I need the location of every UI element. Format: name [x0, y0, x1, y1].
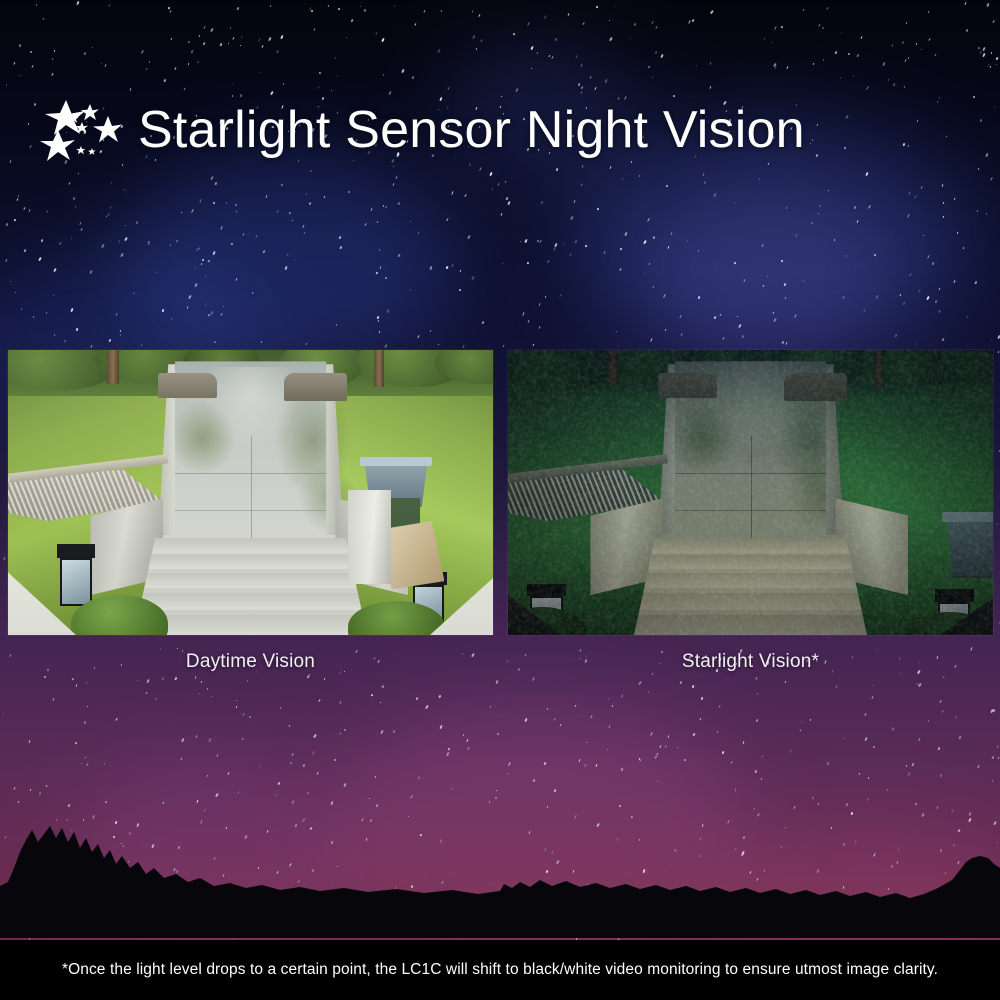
star-speck: [866, 86, 869, 90]
star-speck: [872, 684, 874, 686]
star-speck: [348, 191, 350, 194]
star-speck: [206, 775, 208, 777]
star-speck: [906, 22, 908, 24]
scene-garden-walkway-night: [508, 350, 993, 635]
star-speck: [660, 744, 662, 747]
star-speck: [794, 314, 797, 318]
star-speck: [318, 698, 321, 701]
star-speck: [670, 232, 672, 235]
star-speck: [904, 86, 906, 88]
star-speck: [108, 339, 111, 342]
star-speck: [540, 201, 543, 204]
star-speck: [339, 246, 342, 249]
star-speck: [681, 333, 684, 337]
scene-bin-rim: [360, 457, 433, 466]
star-speck: [723, 337, 725, 340]
star-speck: [416, 697, 419, 701]
scene-trash-bin: [945, 515, 994, 578]
star-speck: [661, 54, 664, 59]
star-speck: [384, 206, 387, 209]
star-speck: [418, 776, 421, 780]
star-speck: [654, 51, 657, 55]
star-speck: [214, 340, 216, 342]
star-speck: [124, 224, 126, 226]
star-speck: [964, 2, 966, 5]
footnote-bar: *Once the light level drops to a certain…: [0, 940, 1000, 1000]
star-speck: [446, 752, 449, 756]
star-speck: [882, 61, 885, 65]
star-speck: [915, 195, 918, 199]
star-speck: [237, 791, 239, 794]
star-speck: [547, 260, 549, 263]
star-speck: [377, 320, 379, 322]
star-speck: [312, 750, 315, 754]
star-speck: [780, 260, 782, 262]
star-speck: [40, 238, 43, 242]
star-speck: [892, 82, 895, 86]
star-speck: [18, 195, 20, 197]
star-speck: [52, 295, 53, 297]
star-speck: [894, 334, 897, 337]
star-speck: [13, 62, 16, 65]
star-speck: [923, 235, 924, 237]
star-speck: [52, 698, 54, 701]
star-speck: [696, 64, 698, 66]
star-speck: [28, 740, 30, 743]
star-speck: [170, 318, 172, 321]
star-speck: [974, 281, 977, 284]
star-speck: [305, 193, 306, 195]
star-speck: [262, 250, 265, 253]
star-speck: [201, 258, 204, 261]
star-speck: [489, 172, 492, 176]
star-speck: [154, 698, 157, 701]
star-speck: [141, 50, 144, 54]
star-speck: [845, 802, 847, 805]
star-speck: [337, 76, 339, 78]
star-speck: [581, 63, 583, 66]
star-speck: [175, 239, 177, 242]
star-speck: [207, 314, 209, 317]
star-speck: [24, 249, 27, 253]
star-speck: [439, 695, 442, 698]
star-speck: [700, 697, 703, 701]
star-speck: [574, 240, 577, 243]
star-speck: [462, 734, 464, 736]
star-speck: [519, 241, 520, 242]
star-speck: [786, 66, 788, 69]
photo-panel-starlight[interactable]: [508, 350, 993, 635]
star-speck: [887, 789, 889, 791]
scene-path-seam: [251, 436, 252, 544]
star-speck: [677, 747, 678, 749]
star-speck: [381, 685, 384, 688]
star-speck: [288, 212, 290, 214]
star-speck: [207, 260, 209, 262]
caption-daytime: Daytime Vision: [8, 651, 493, 683]
star-speck: [430, 265, 433, 269]
comparison-panels: [8, 350, 993, 635]
star-speck: [619, 247, 621, 249]
star-speck: [124, 237, 128, 241]
star-speck: [123, 189, 125, 191]
star-speck: [863, 309, 865, 312]
star-speck: [539, 326, 541, 329]
star-speck: [18, 43, 21, 46]
scene-pillar-right: [348, 490, 392, 584]
star-speck: [802, 279, 804, 281]
star-speck: [781, 341, 784, 344]
star-speck: [18, 801, 20, 803]
star-speck: [617, 345, 619, 347]
star-speck: [190, 50, 193, 54]
star-speck: [260, 72, 262, 74]
star-speck: [716, 731, 717, 733]
scene-lantern-left: [57, 544, 96, 607]
star-speck: [19, 75, 20, 76]
star-speck: [786, 342, 788, 345]
night-vision-promo-stage: Starlight Sensor Night Vision: [0, 0, 1000, 1000]
star-speck: [269, 5, 271, 7]
star-speck: [738, 324, 741, 328]
star-speck: [985, 153, 988, 157]
star-speck: [546, 708, 548, 710]
star-speck: [647, 218, 650, 222]
star-speck: [758, 177, 760, 180]
photo-panel-daytime[interactable]: [8, 350, 493, 635]
star-speck: [512, 33, 515, 36]
star-speck: [827, 6, 829, 9]
star-speck: [887, 79, 889, 81]
horizon-silhouette: [0, 808, 1000, 938]
star-speck: [504, 181, 506, 184]
star-speck: [554, 718, 557, 721]
star-speck: [818, 213, 819, 214]
star-speck: [902, 302, 905, 306]
star-speck: [523, 312, 526, 316]
star-speck: [462, 345, 464, 349]
star-speck: [845, 114, 849, 119]
star-speck: [918, 738, 920, 741]
star-speck: [291, 753, 294, 756]
star-speck: [118, 240, 119, 243]
star-speck: [575, 55, 577, 58]
star-speck: [379, 266, 381, 269]
star-speck: [684, 759, 687, 762]
scene-lantern-cap: [935, 589, 974, 602]
star-speck: [857, 220, 859, 223]
star-speck: [533, 344, 535, 346]
scene-stair-step: [134, 615, 367, 635]
star-speck: [585, 764, 587, 767]
star-speck: [120, 330, 122, 332]
star-speck: [802, 9, 804, 11]
star-speck: [826, 761, 829, 765]
star-speck: [990, 52, 991, 54]
star-speck: [597, 207, 599, 210]
star-speck: [918, 683, 921, 687]
star-speck: [553, 247, 556, 251]
star-speck: [731, 761, 734, 764]
star-speck: [503, 345, 505, 348]
star-speck: [204, 302, 206, 305]
star-speck: [956, 232, 958, 235]
scene-stone-planter: [784, 373, 847, 402]
star-speck: [240, 45, 241, 46]
star-speck: [741, 335, 744, 339]
star-speck: [864, 713, 866, 716]
star-speck: [891, 727, 895, 732]
star-speck: [30, 51, 33, 54]
star-speck: [714, 315, 717, 319]
star-speck: [918, 288, 921, 292]
star-speck: [609, 37, 612, 41]
star-speck: [385, 277, 387, 279]
star-speck: [386, 309, 389, 313]
star-cluster-icon: [40, 98, 132, 162]
star-speck: [761, 244, 763, 247]
star-speck: [105, 801, 107, 804]
star-speck: [317, 86, 319, 89]
star-speck: [502, 263, 503, 264]
scene-stair-step: [634, 615, 867, 635]
star-speck: [966, 29, 969, 33]
star-speck: [6, 84, 8, 87]
star-speck: [603, 251, 605, 254]
star-speck: [479, 14, 481, 17]
star-speck: [589, 75, 592, 78]
star-speck: [761, 755, 763, 758]
star-speck: [508, 762, 510, 766]
star-speck: [225, 202, 227, 204]
star-speck: [410, 795, 413, 799]
star-speck: [236, 706, 238, 708]
star-speck: [978, 168, 980, 170]
star-speck: [997, 351, 999, 353]
star-speck: [249, 715, 251, 717]
star-speck: [180, 758, 182, 760]
star-speck: [582, 22, 584, 25]
star-speck: [472, 10, 474, 14]
star-speck: [156, 272, 158, 274]
star-speck: [559, 294, 562, 297]
star-speck: [83, 721, 85, 724]
star-speck: [551, 56, 553, 59]
star-speck: [219, 43, 222, 46]
star-speck: [452, 191, 454, 195]
star-speck: [650, 338, 652, 342]
star-speck: [644, 272, 645, 273]
star-speck: [314, 28, 316, 31]
star-speck: [199, 35, 201, 37]
star-speck: [996, 64, 998, 66]
star-speck: [199, 693, 200, 695]
star-speck: [89, 270, 92, 274]
star-speck: [620, 694, 623, 698]
star-speck: [5, 223, 7, 226]
star-speck: [934, 300, 937, 304]
star-speck: [698, 250, 699, 252]
star-speck: [242, 233, 244, 236]
star-speck: [76, 1, 79, 5]
star-speck: [734, 790, 735, 792]
star-speck: [289, 762, 292, 765]
star-speck: [938, 309, 941, 312]
star-speck: [417, 231, 419, 233]
star-speck: [203, 26, 206, 29]
star-speck: [258, 38, 261, 42]
star-speck: [10, 281, 12, 283]
star-speck: [785, 297, 787, 299]
star-speck: [977, 765, 979, 768]
star-speck: [268, 37, 271, 41]
star-speck: [3, 711, 5, 713]
star-speck: [799, 728, 801, 731]
star-speck: [875, 295, 878, 300]
star-speck: [902, 143, 904, 146]
star-speck: [545, 296, 547, 299]
star-speck: [979, 119, 982, 122]
scene-stair-step: [134, 538, 367, 553]
star-speck: [818, 803, 820, 805]
star-speck: [467, 235, 470, 239]
star-speck: [23, 206, 25, 209]
star-speck: [145, 692, 147, 694]
star-speck: [376, 804, 379, 808]
star-speck: [446, 218, 448, 221]
star-speck: [901, 41, 904, 44]
star-speck: [819, 204, 821, 207]
star-speck: [259, 766, 260, 768]
star-speck: [654, 755, 657, 759]
scene-stair-step: [634, 593, 867, 609]
star-speck: [28, 209, 30, 212]
star-speck: [737, 316, 738, 317]
star-speck: [281, 35, 284, 39]
star-speck: [774, 25, 777, 29]
star-speck: [941, 710, 944, 713]
star-speck: [282, 82, 284, 84]
star-speck: [350, 18, 353, 22]
scene-stairs: [134, 538, 367, 635]
star-speck: [986, 212, 988, 215]
star-speck: [909, 273, 912, 277]
star-speck: [308, 202, 311, 206]
star-speck: [222, 305, 223, 307]
star-speck: [215, 793, 218, 797]
star-speck: [916, 43, 917, 45]
star-speck: [940, 773, 943, 777]
star-speck: [771, 42, 772, 43]
caption-starlight: Starlight Vision*: [508, 651, 993, 683]
star-speck: [811, 139, 813, 141]
scene-path-seam: [163, 510, 338, 511]
star-speck: [397, 202, 400, 205]
star-speck: [196, 60, 198, 62]
star-speck: [188, 295, 191, 299]
star-speck: [101, 244, 104, 248]
star-speck: [710, 62, 712, 65]
star-speck: [310, 170, 312, 172]
scene-lantern-cap: [527, 584, 566, 597]
star-speck: [584, 245, 587, 248]
star-speck: [51, 73, 54, 76]
scene-garden-walkway-day: [8, 350, 493, 635]
star-speck: [611, 705, 613, 707]
star-speck: [692, 18, 695, 22]
star-speck: [764, 38, 766, 40]
star-speck: [340, 733, 341, 735]
star-speck: [992, 20, 995, 23]
star-speck: [464, 194, 466, 197]
star-speck: [384, 344, 387, 348]
star-speck: [3, 557, 5, 560]
star-speck: [709, 86, 711, 89]
star-speck: [53, 334, 55, 336]
star-speck: [908, 214, 911, 218]
scene-lantern-cap: [57, 544, 96, 558]
star-speck: [614, 6, 616, 8]
star-speck: [607, 698, 609, 701]
scene-tree-trunk: [874, 350, 884, 387]
star-speck: [935, 54, 937, 56]
star-speck: [31, 65, 34, 68]
star-speck: [92, 47, 93, 48]
star-speck: [762, 284, 764, 286]
star-speck: [306, 343, 308, 345]
star-speck: [497, 183, 499, 186]
star-speck: [915, 803, 918, 806]
star-speck: [986, 2, 989, 6]
star-speck: [364, 223, 367, 226]
star-speck: [761, 778, 763, 780]
star-speck: [378, 331, 380, 333]
star-speck: [649, 262, 651, 264]
star-speck: [214, 182, 216, 185]
star-speck: [839, 76, 841, 78]
star-speck: [700, 718, 701, 720]
star-speck: [842, 738, 843, 739]
star-speck: [177, 648, 178, 649]
star-speck: [527, 21, 530, 25]
star-speck: [953, 198, 955, 201]
star-speck: [488, 800, 490, 803]
star-speck: [202, 42, 205, 46]
star-speck: [652, 21, 654, 24]
star-speck: [967, 316, 969, 318]
star-speck: [937, 101, 939, 103]
star-speck: [410, 288, 412, 290]
star-speck: [83, 52, 86, 55]
star-speck: [679, 314, 681, 317]
star-speck: [554, 788, 557, 792]
star-speck: [393, 183, 395, 186]
star-speck: [316, 772, 319, 776]
star-speck: [532, 778, 535, 781]
star-speck: [51, 58, 53, 60]
star-speck: [852, 75, 854, 77]
star-speck: [620, 767, 623, 771]
star-speck: [908, 145, 910, 147]
star-speck: [369, 798, 370, 800]
star-speck: [496, 733, 498, 736]
star-speck: [120, 253, 123, 257]
star-speck: [205, 275, 206, 276]
star-speck: [991, 780, 993, 783]
star-speck: [494, 797, 496, 800]
star-speck: [74, 742, 77, 745]
star-speck: [216, 754, 218, 757]
